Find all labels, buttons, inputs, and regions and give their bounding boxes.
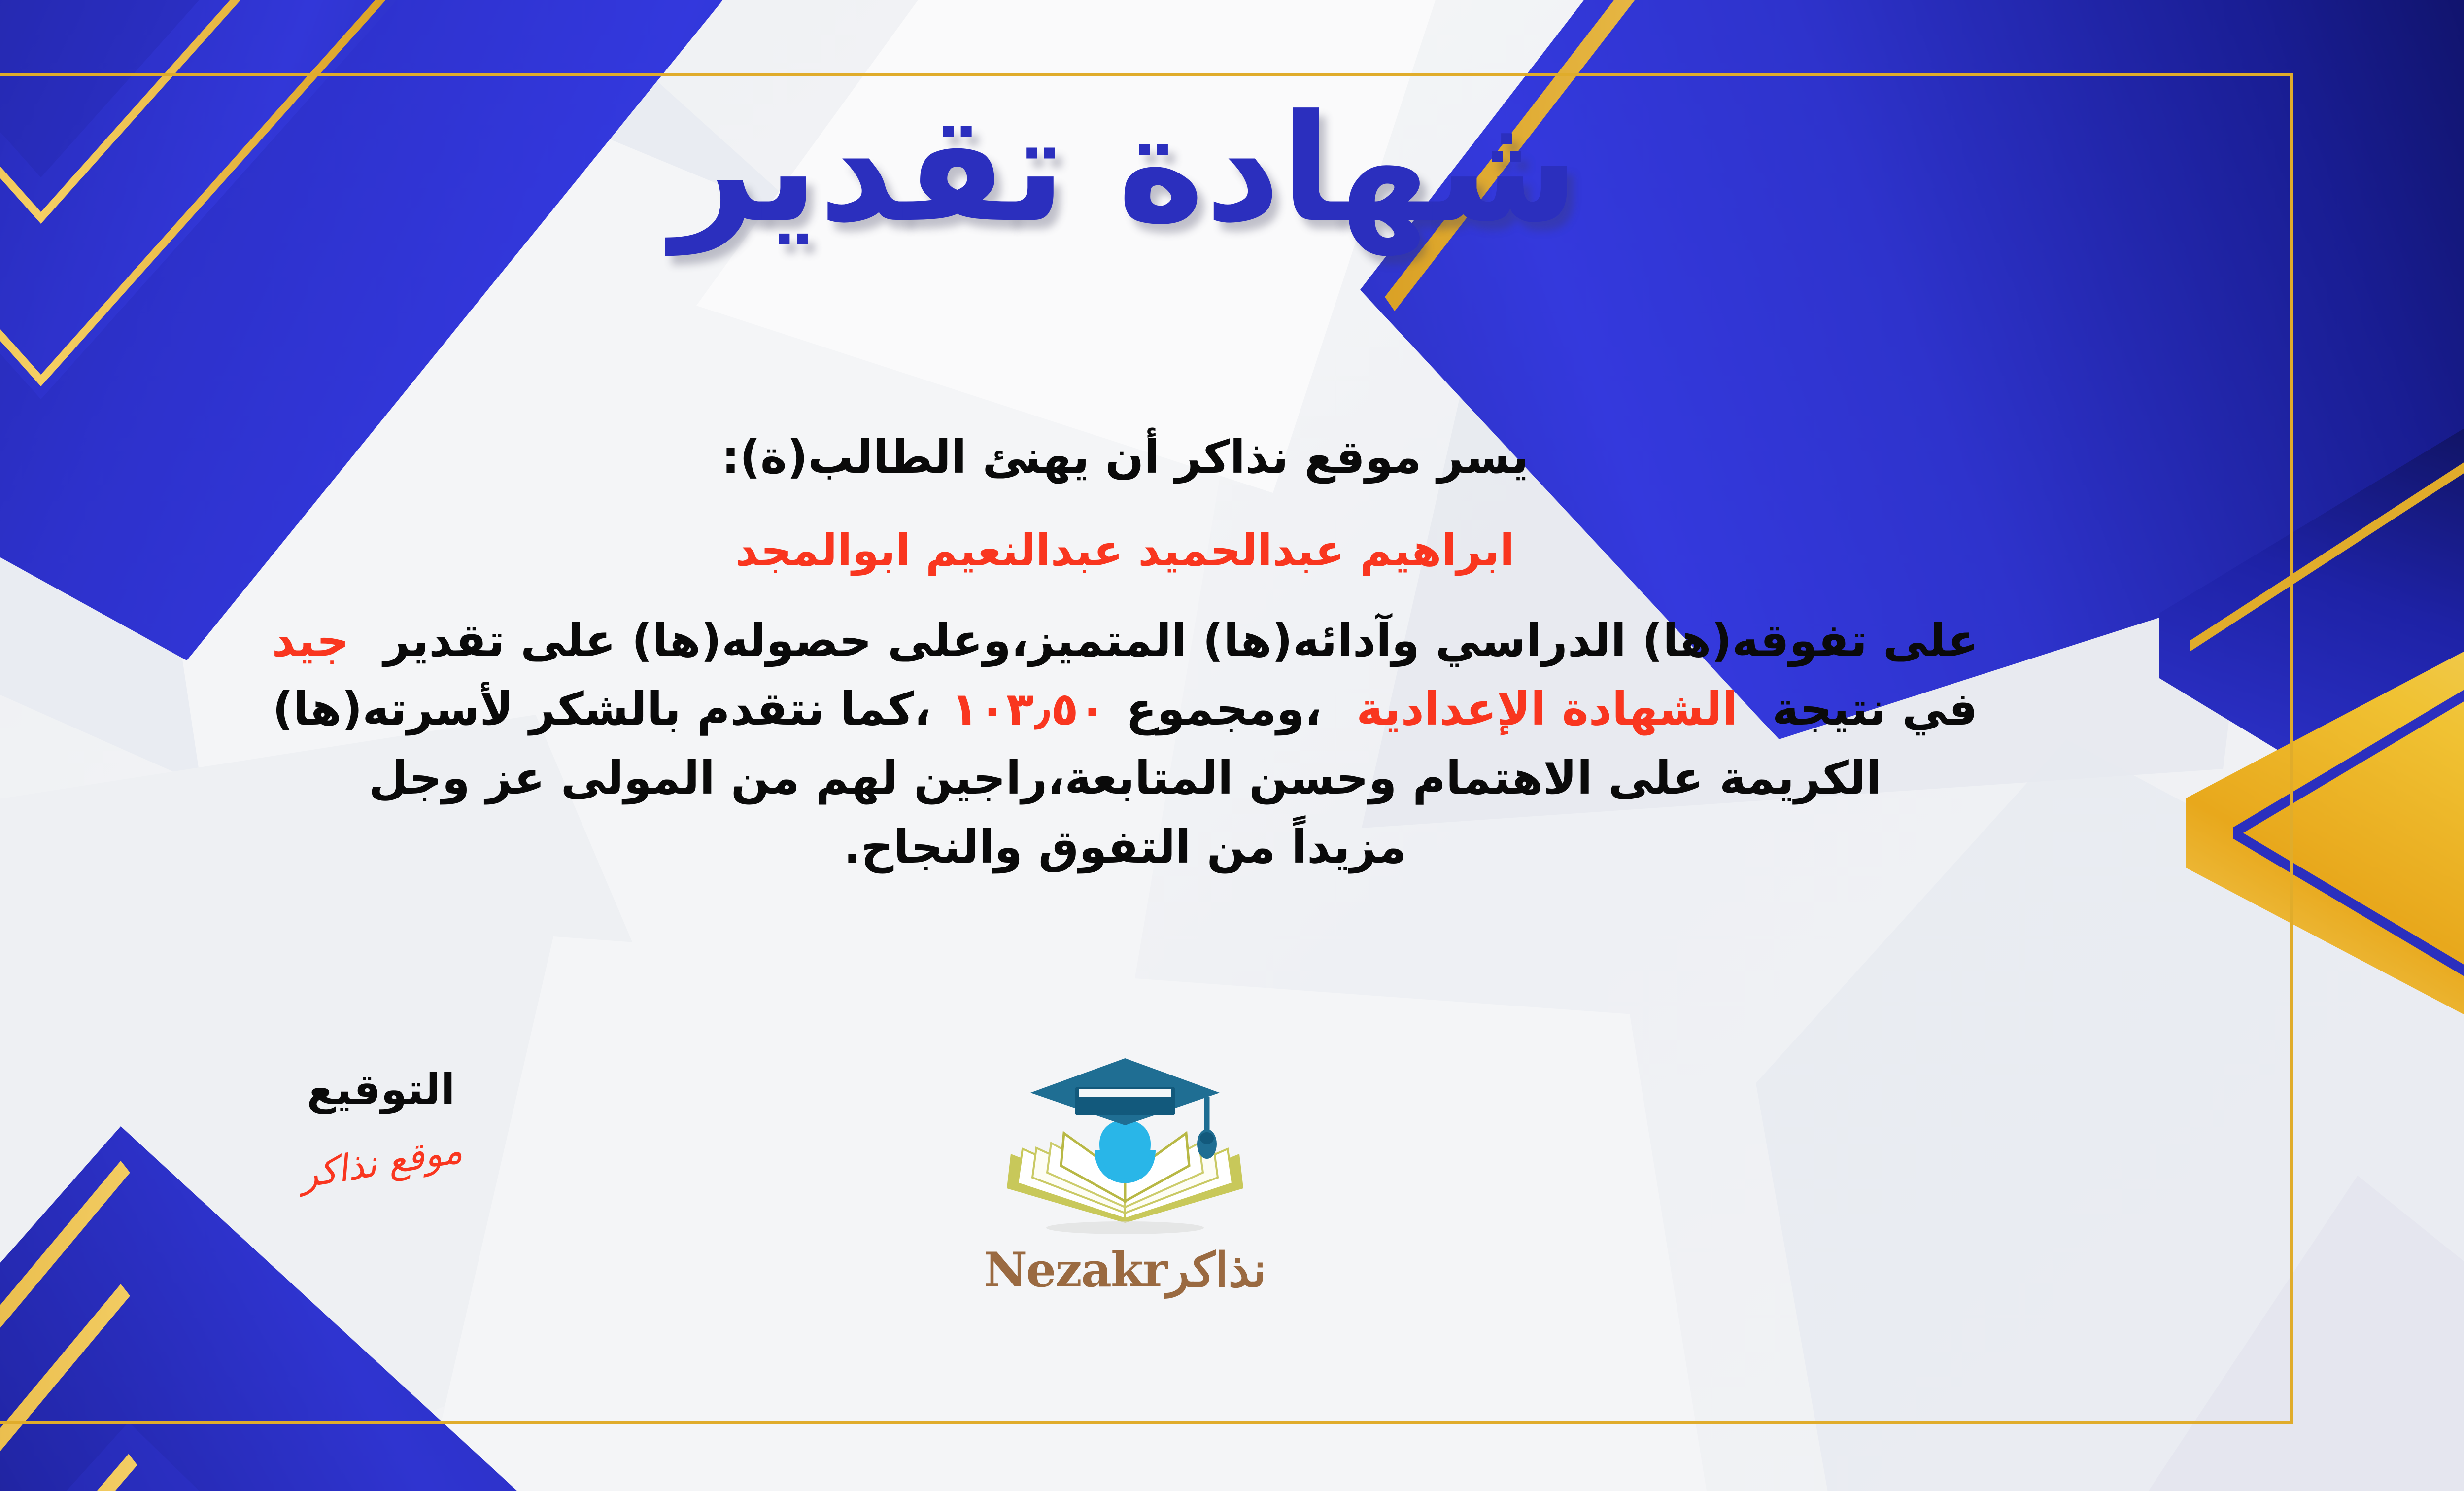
achievement-text: على تفوقه(ها) الدراسي وآدائه(ها) المتميز… bbox=[383, 614, 1978, 667]
logo-arabic-text: نذاكر bbox=[1166, 1242, 1266, 1298]
signature-mark: موقع نذاكر bbox=[297, 1129, 465, 1197]
signature-label: التوقيع bbox=[194, 1069, 568, 1111]
site-logo: نذاكرNezakr bbox=[938, 1051, 1312, 1294]
page-title: شهادة تقدير bbox=[0, 88, 2293, 250]
signature-block: التوقيع موقع نذاكر bbox=[194, 1069, 568, 1184]
exam-line: في نتيجةالشهادة الإعدادية،ومجموع١٠٣٫٥٠،ك… bbox=[0, 675, 2278, 744]
total-label: ،ومجموع bbox=[1126, 683, 1322, 735]
grade-value: جيد bbox=[272, 614, 349, 667]
exam-name: الشهادة الإعدادية bbox=[1356, 683, 1738, 735]
intro-line: يسر موقع نذاكر أن يهنئ الطالب(ة): bbox=[0, 423, 2278, 492]
achievement-line: على تفوقه(ها) الدراسي وآدائه(ها) المتميز… bbox=[0, 606, 2278, 675]
logo-latin-text: Nezakr bbox=[984, 1242, 1166, 1298]
exam-prefix: في نتيجة bbox=[1772, 683, 1978, 735]
family-thanks-line: الكريمة على الاهتمام وحسن المتابعة،راجين… bbox=[0, 744, 2278, 813]
certificate-body: يسر موقع نذاكر أن يهنئ الطالب(ة): ابراهي… bbox=[0, 423, 2278, 882]
student-name: ابراهيم عبدالحميد عبدالنعيم ابوالمجد bbox=[0, 518, 2278, 584]
student-figure-icon bbox=[1095, 1120, 1156, 1183]
logo-wordmark: نذاكرNezakr bbox=[938, 1247, 1312, 1294]
certificate-content: شهادة تقدير يسر موقع نذاكر أن يهنئ الطال… bbox=[0, 73, 2293, 1424]
closing-line: مزيداً من التفوق والنجاح. bbox=[0, 813, 2278, 882]
logo-svg bbox=[987, 1051, 1263, 1244]
thanks-prefix: ،كما نتقدم بالشكر لأسرته(ها) bbox=[273, 683, 931, 735]
logo-artwork bbox=[987, 1051, 1263, 1244]
total-score: ١٠٣٫٥٠ bbox=[951, 683, 1106, 735]
certificate-page: شهادة تقدير يسر موقع نذاكر أن يهنئ الطال… bbox=[0, 0, 2464, 1491]
